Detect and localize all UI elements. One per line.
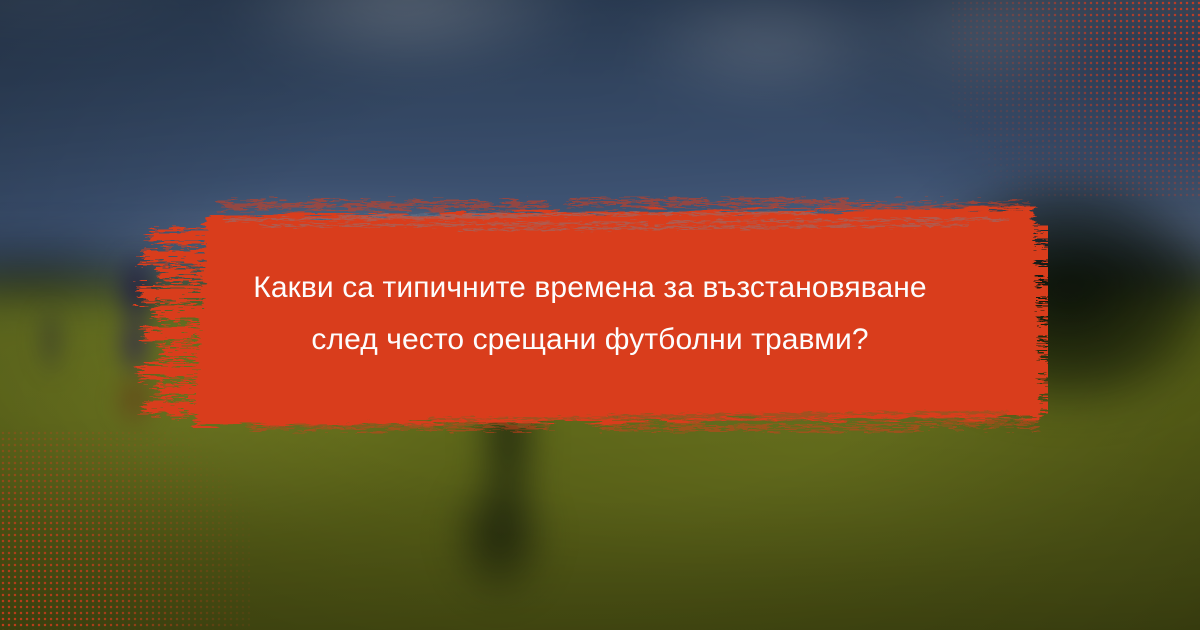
headline-block: Какви са типичните времена за възстановя… — [150, 186, 1030, 442]
banner-stage: Какви са типичните времена за възстановя… — [0, 0, 1200, 630]
headline-line-1: Какви са типичните времена за възстановя… — [253, 262, 926, 314]
headline-line-2: след често срещани футболни травми? — [311, 314, 868, 366]
